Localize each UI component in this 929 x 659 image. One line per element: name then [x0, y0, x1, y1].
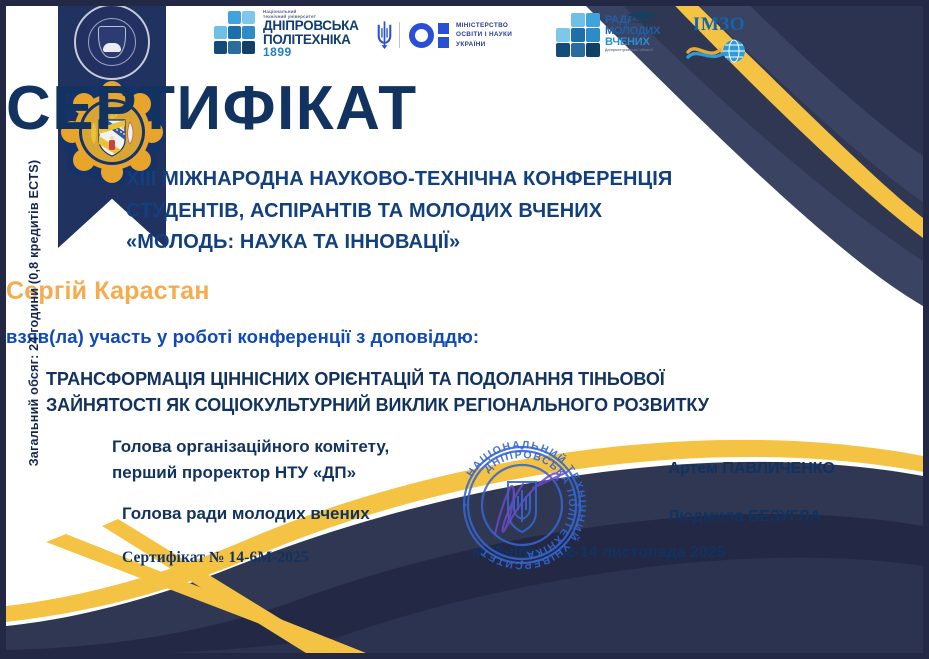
signatory-name-2: Людмила БЕЗУГЛА: [668, 508, 821, 526]
signatory-role-1-line-1: Голова організаційного комітету,: [112, 434, 389, 460]
mon-logo-text: МІНІСТЕРСТВО ОСВІТИ І НАУКИ УКРАЇНИ: [456, 21, 512, 48]
signatory-role-1-line-2: перший проректор НТУ «ДП»: [112, 460, 389, 486]
logo-imzo: ІМЗО: [686, 14, 752, 66]
dp-main-line-1: ДНІПРОВСЬКА: [263, 19, 359, 33]
logo-divider: [399, 22, 400, 48]
mon-line-1: МІНІСТЕРСТВО: [456, 21, 512, 30]
graduation-cap-icon: [626, 9, 658, 23]
imzo-text: ІМЗО: [693, 14, 745, 36]
certificate-page: Національний технічний університет ДНІПР…: [0, 0, 929, 659]
dp-main-line-2: ПОЛІТЕХНІКА: [263, 33, 359, 47]
imzo-globe-icon: [686, 36, 752, 66]
conference-line-1: XIII МІЖНАРОДНА НАУКОВО-ТЕХНІЧНА КОНФЕРЕ…: [126, 164, 833, 196]
conference-name: XIII МІЖНАРОДНА НАУКОВО-ТЕХНІЧНА КОНФЕРЕ…: [126, 164, 833, 259]
page-title: СЕРТИФІКАТ: [6, 78, 923, 140]
dp-year: 1899: [263, 46, 359, 58]
recipient-name: Сергій Карастан: [6, 277, 923, 306]
dp-blocks-icon: [214, 11, 258, 57]
rmv-logo-text: РАДА МОЛОДИХ ВЧЕНИХ Дніпропетровської об…: [605, 15, 660, 52]
logo-dniprovska-politekhnika: Національний технічний університет ДНІПР…: [214, 10, 359, 58]
rmv-blocks-icon: [554, 11, 602, 57]
conference-line-2: СТУДЕНТІВ, АСПІРАНТІВ ТА МОЛОДИХ ВЧЕНИХ: [126, 196, 833, 228]
mon-line-3: УКРАЇНИ: [456, 40, 512, 49]
certificate-paper: Національний технічний університет ДНІПР…: [6, 6, 923, 653]
mon-line-2: ОСВІТИ І НАУКИ: [456, 30, 512, 39]
report-line-1: ТРАНСФОРМАЦІЯ ЦІННІСНИХ ОРІЄНТАЦІЙ ТА ПО…: [46, 367, 901, 393]
signatory-name-1: Артем ПАВЛИЧЕНКО: [668, 460, 835, 478]
mon-mark-icon: [409, 23, 449, 48]
participation-text: взяв(ла) участь у роботі конференції з д…: [6, 326, 923, 348]
rmv-fine-print: Дніпропетровської області: [605, 49, 660, 52]
header-logos: Національний технічний університет ДНІПР…: [6, 6, 923, 68]
conference-line-3: «МОЛОДЬ: НАУКА ТА ІННОВАЦІЇ»: [126, 227, 833, 259]
ukraine-trident-icon: [376, 20, 393, 50]
report-line-2: ЗАЙНЯТОСТІ ЯК СОЦІОКУЛЬТУРНИЙ ВИКЛИК РЕГ…: [46, 393, 901, 419]
certificate-number: Сертифікат № 14-6М-2025: [122, 549, 309, 567]
rmv-line-3: ВЧЕНИХ: [605, 37, 660, 48]
report-title: ТРАНСФОРМАЦІЯ ЦІННІСНИХ ОРІЄНТАЦІЙ ТА ПО…: [46, 367, 901, 418]
dp-logo-text: Національний технічний університет ДНІПР…: [263, 10, 359, 58]
logo-ministry-of-education: МІНІСТЕРСТВО ОСВІТИ І НАУКИ УКРАЇНИ: [376, 20, 512, 50]
ects-note: Загальний обсяг: 24 години (0,8 кредитів…: [27, 133, 41, 493]
mon-circle-icon: [409, 23, 434, 48]
official-stamp: НАЦІОНАЛЬНИЙ ТЕХНІЧНИЙ УНІВЕРСИТЕТ ДНІПР…: [447, 430, 597, 580]
mon-squares-icon: [438, 23, 449, 48]
signatory-role-2: Голова ради молодих вчених: [122, 504, 370, 524]
logo-rada-molodykh-vchenykh: РАДА МОЛОДИХ ВЧЕНИХ Дніпропетровської об…: [554, 11, 660, 57]
signatory-role-1: Голова організаційного комітету, перший …: [112, 434, 389, 485]
